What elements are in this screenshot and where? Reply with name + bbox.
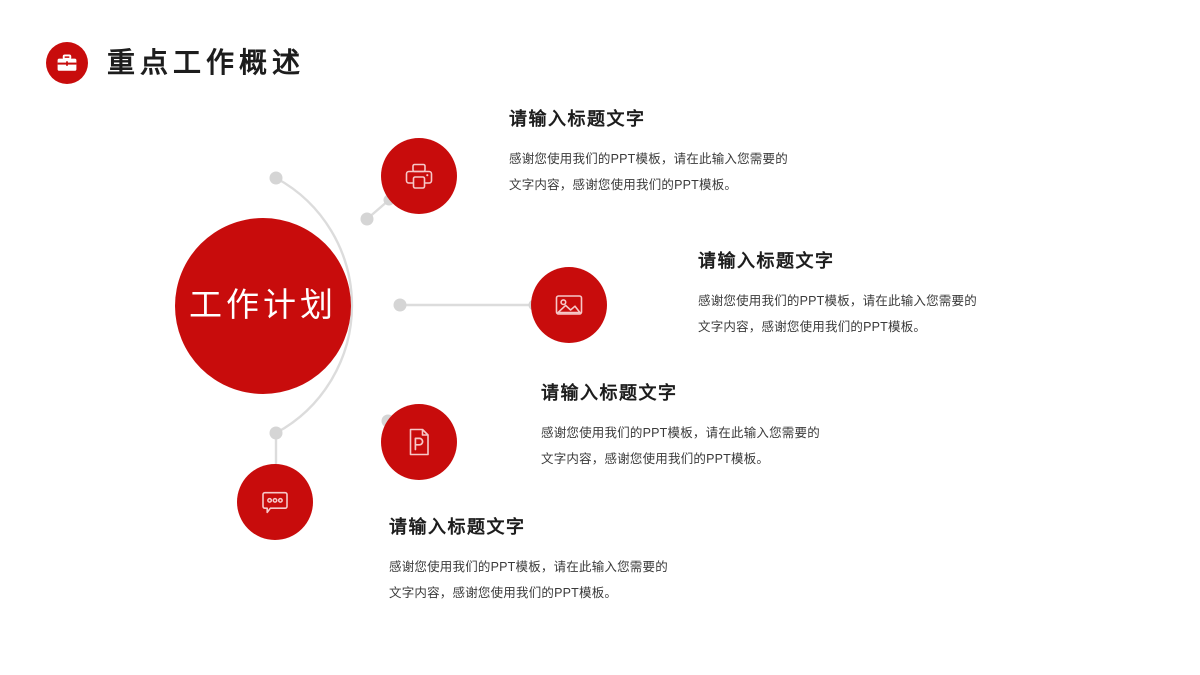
joint-dot-printer-branch [361, 213, 374, 226]
image-icon [552, 288, 586, 322]
block-body-line: 感谢您使用我们的PPT模板，请在此输入您需要的 [541, 420, 820, 446]
joint-dot-arc-end [270, 427, 283, 440]
connector-branch-printer [367, 200, 389, 219]
block-body-line: 感谢您使用我们的PPT模板，请在此输入您需要的 [389, 554, 668, 580]
chat-bubble-icon [258, 485, 292, 519]
slide: 重点工作概述 工作计划 [0, 0, 1200, 675]
block-body-line: 文字内容，感谢您使用我们的PPT模板。 [541, 446, 820, 472]
content-block: 请输入标题文字 感谢您使用我们的PPT模板，请在此输入您需要的 文字内容，感谢您… [541, 384, 820, 472]
content-block: 请输入标题文字 感谢您使用我们的PPT模板，请在此输入您需要的 文字内容，感谢您… [389, 518, 668, 606]
hub-label: 工作计划 [189, 290, 337, 323]
block-title: 请输入标题文字 [698, 252, 977, 270]
block-body-line: 文字内容，感谢您使用我们的PPT模板。 [389, 580, 668, 606]
diagram-node-ppt-file[interactable] [381, 404, 457, 480]
hub-circle[interactable]: 工作计划 [175, 218, 351, 394]
block-title: 请输入标题文字 [389, 518, 668, 536]
diagram-node-printer[interactable] [381, 138, 457, 214]
block-body-line: 文字内容，感谢您使用我们的PPT模板。 [698, 314, 977, 340]
joint-dot-image-branch [394, 299, 407, 312]
printer-icon [402, 159, 436, 193]
diagram-node-image[interactable] [531, 267, 607, 343]
block-body-line: 文字内容，感谢您使用我们的PPT模板。 [509, 172, 788, 198]
block-body-line: 感谢您使用我们的PPT模板，请在此输入您需要的 [698, 288, 977, 314]
powerpoint-file-icon [402, 425, 436, 459]
diagram-node-chat[interactable] [237, 464, 313, 540]
block-body-line: 感谢您使用我们的PPT模板，请在此输入您需要的 [509, 146, 788, 172]
content-block: 请输入标题文字 感谢您使用我们的PPT模板，请在此输入您需要的 文字内容，感谢您… [509, 110, 788, 198]
joint-dot-arc-start [270, 172, 283, 185]
block-title: 请输入标题文字 [509, 110, 788, 128]
content-block: 请输入标题文字 感谢您使用我们的PPT模板，请在此输入您需要的 文字内容，感谢您… [698, 252, 977, 340]
block-title: 请输入标题文字 [541, 384, 820, 402]
